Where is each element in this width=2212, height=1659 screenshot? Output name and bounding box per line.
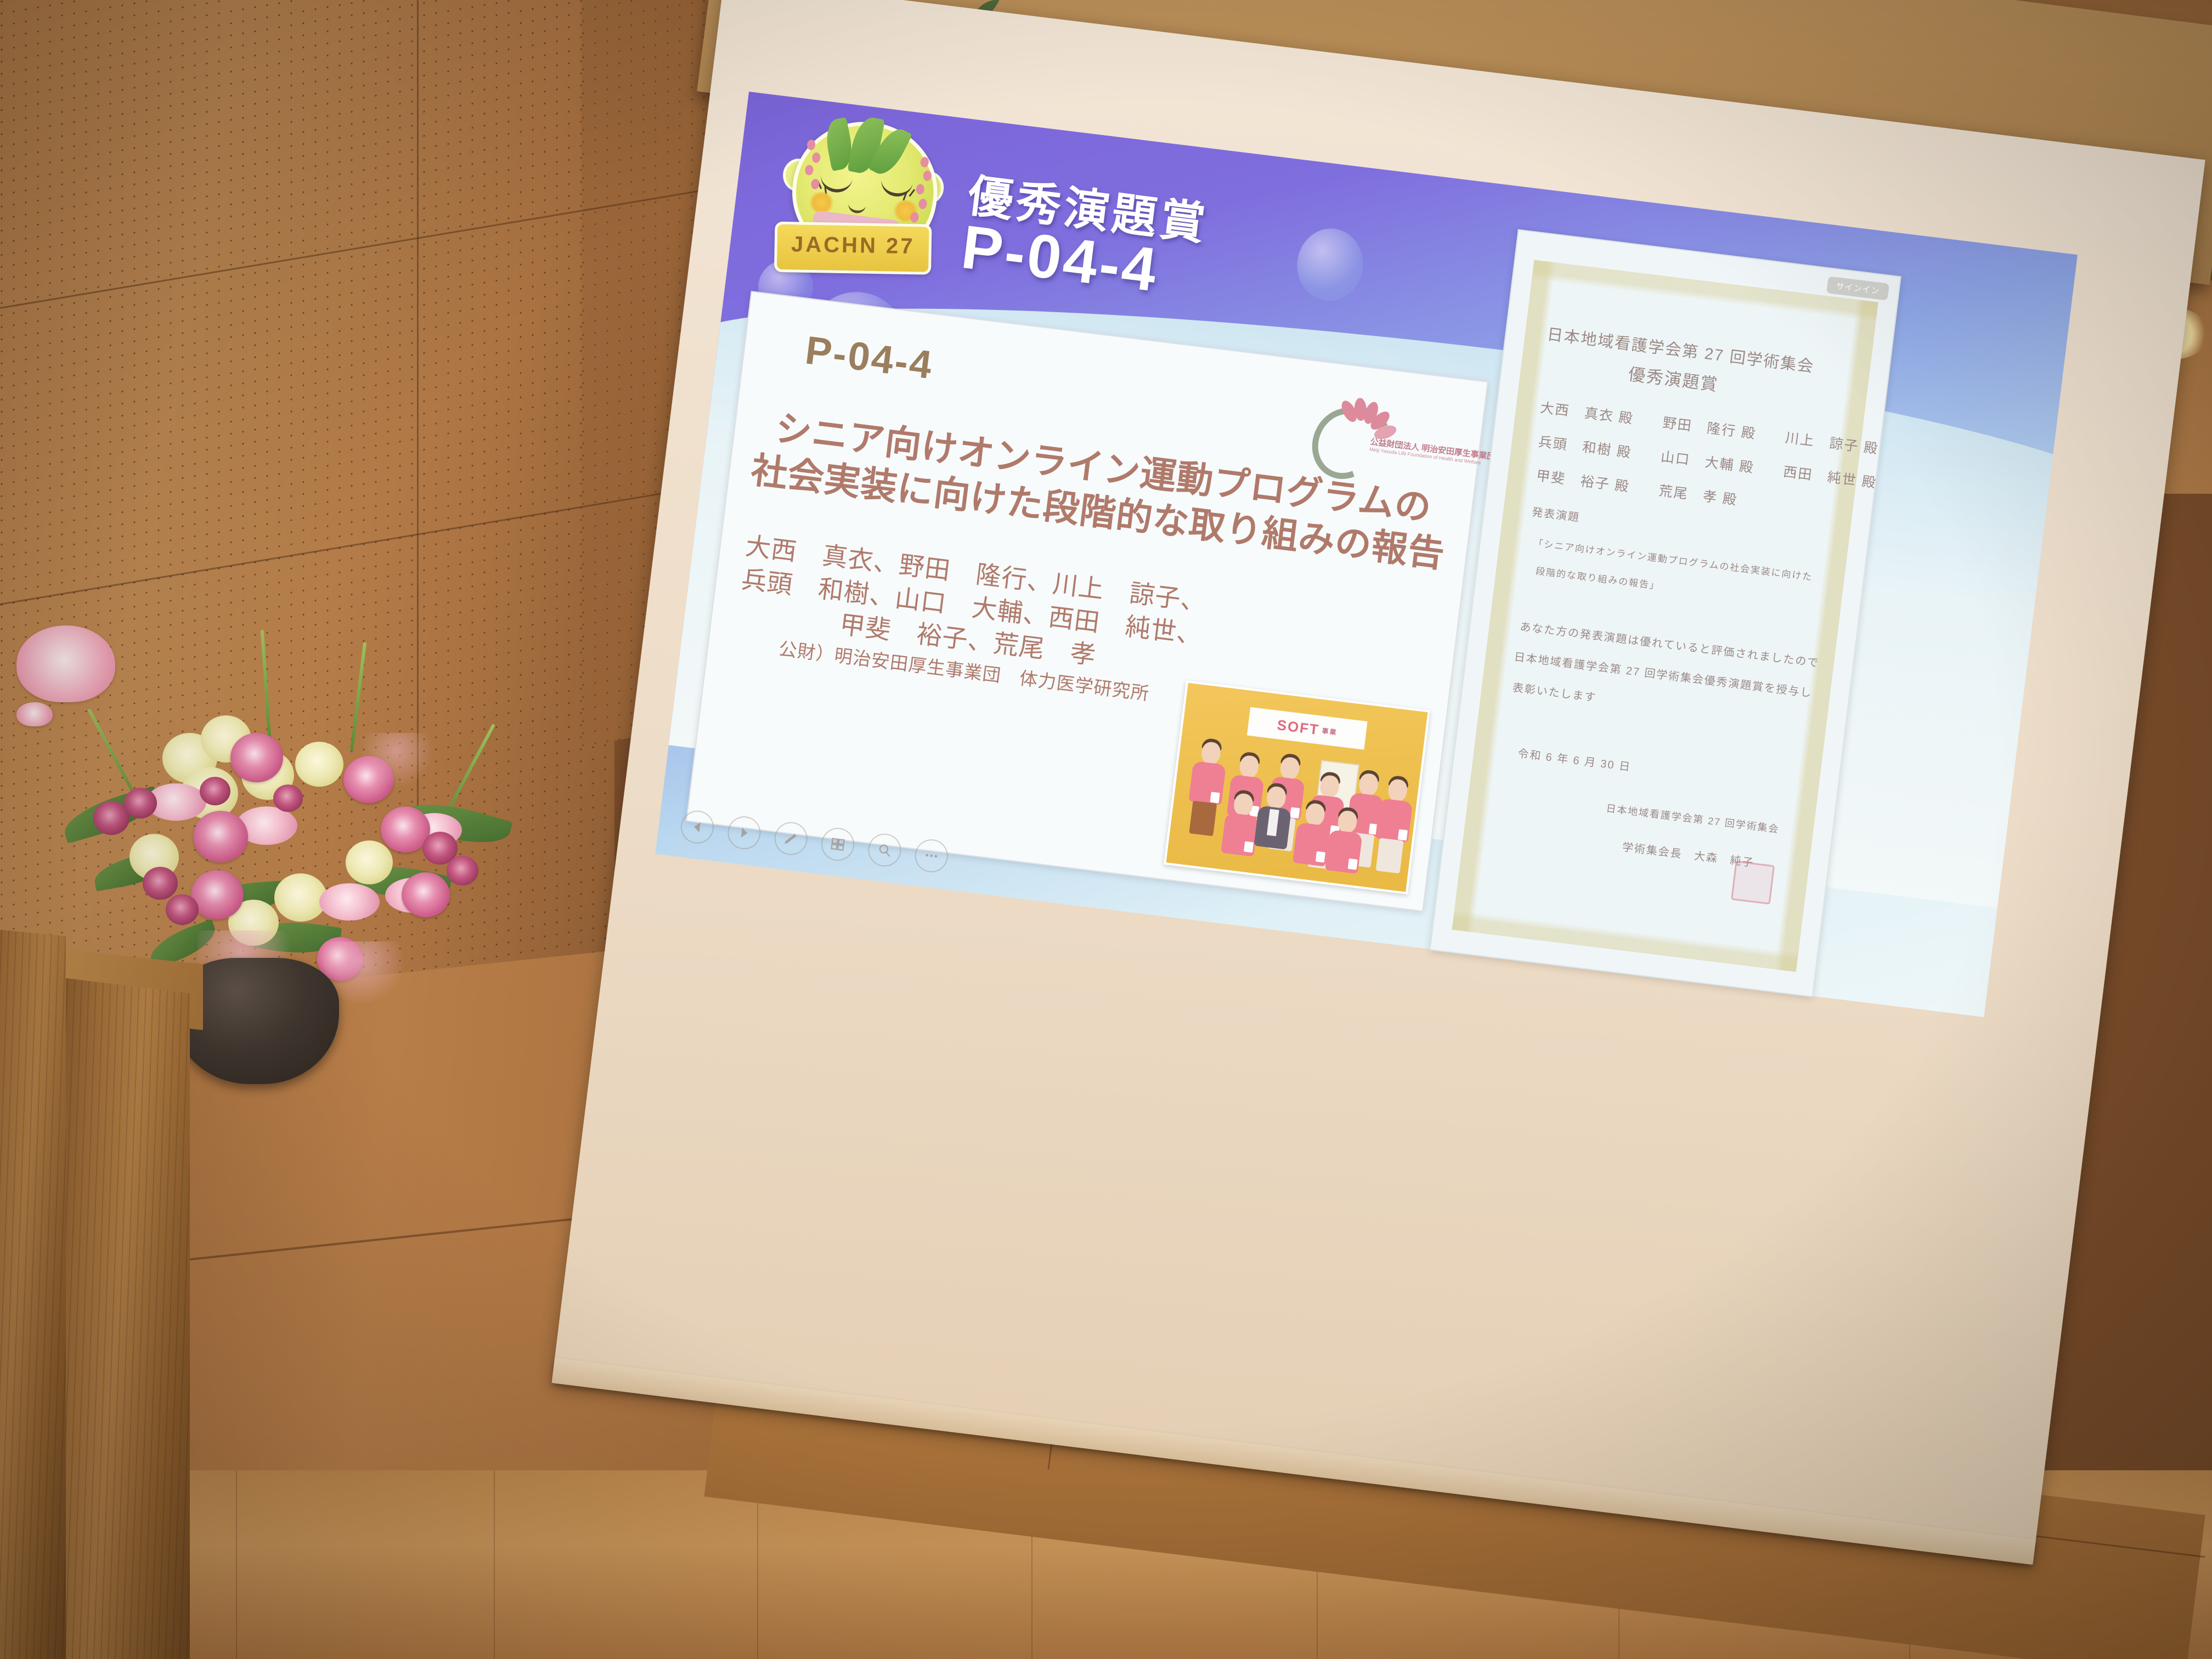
certificate-date: 令和 6 年 6 月 30 日 (1517, 744, 1632, 774)
certificate-recipients-line3: 甲斐 裕子 殿 荒尾 孝 殿 (1536, 465, 1739, 509)
all-slides-icon[interactable] (820, 826, 856, 863)
certificate-body-line3: 表彰いたします (1512, 679, 1598, 705)
certificate-heading-line2: 優秀演題賞 (1627, 360, 1720, 396)
photo-banner-text: SOFT (1276, 716, 1321, 738)
certificate-topic-label: 発表演題 (1531, 503, 1581, 525)
jachn-mascot-icon: JACHN 27 (760, 105, 960, 291)
group-photo: SOFT 事業 (1164, 680, 1430, 894)
pink-lily (16, 625, 115, 702)
carnation (273, 785, 303, 812)
presentation-title-card: P-04-4 公益財団法人 明治安田厚生事業団 Meiji Yasuda Lif… (686, 291, 1488, 912)
mascot-ribbon-banner: JACHN 27 (774, 222, 932, 275)
pink-rose (402, 872, 450, 917)
cream-flower (346, 840, 393, 884)
next-slide-icon[interactable] (726, 815, 763, 851)
pink-rose (230, 733, 283, 782)
mascot-ribbon-label: JACHN 27 (777, 224, 929, 267)
award-certificate: 日本地域看護学会第 27 回学術集会 優秀演題賞 大西 真衣 殿 野田 隆行 殿… (1452, 260, 1878, 972)
astilbe-spray (356, 733, 438, 793)
carnation (143, 867, 178, 900)
certificate-seal (1731, 861, 1775, 905)
alstroemeria (319, 883, 380, 921)
carnation (124, 788, 157, 819)
cream-flower (295, 742, 343, 787)
pink-rose (191, 870, 244, 919)
lily-bud (16, 702, 53, 726)
abstract-code: P-04-4 (803, 328, 935, 388)
flower-pedestal (53, 977, 190, 1659)
speaker-podium (0, 927, 66, 1659)
pen-icon[interactable] (772, 820, 809, 857)
carnation (447, 856, 478, 885)
carnation (166, 894, 199, 925)
more-options-icon[interactable] (913, 838, 950, 874)
certificate-issuer: 日本地域看護学会第 27 回学術集会 (1605, 800, 1780, 836)
zoom-icon[interactable] (866, 832, 903, 868)
gladiolus-stem (261, 630, 272, 745)
cream-flower (274, 873, 327, 922)
pink-rose (193, 811, 248, 862)
previous-slide-icon[interactable] (679, 809, 716, 845)
photo-banner-subtext: 事業 (1322, 726, 1338, 737)
conference-hall-photo: JACHN 日本地域看護学会 第27回学術集会 地域看護のソーシャルイノベーショ… (0, 0, 2212, 1659)
certificate-topic-line2: 段階的な取り組みの報告」 (1535, 563, 1661, 592)
carnation (200, 777, 230, 805)
projection-screen: JACHN 27 優秀演題賞 P-04-4 P-04-4 公益財団法人 明治安田… (552, 0, 2205, 1565)
photo-banner: SOFT 事業 (1247, 707, 1368, 750)
